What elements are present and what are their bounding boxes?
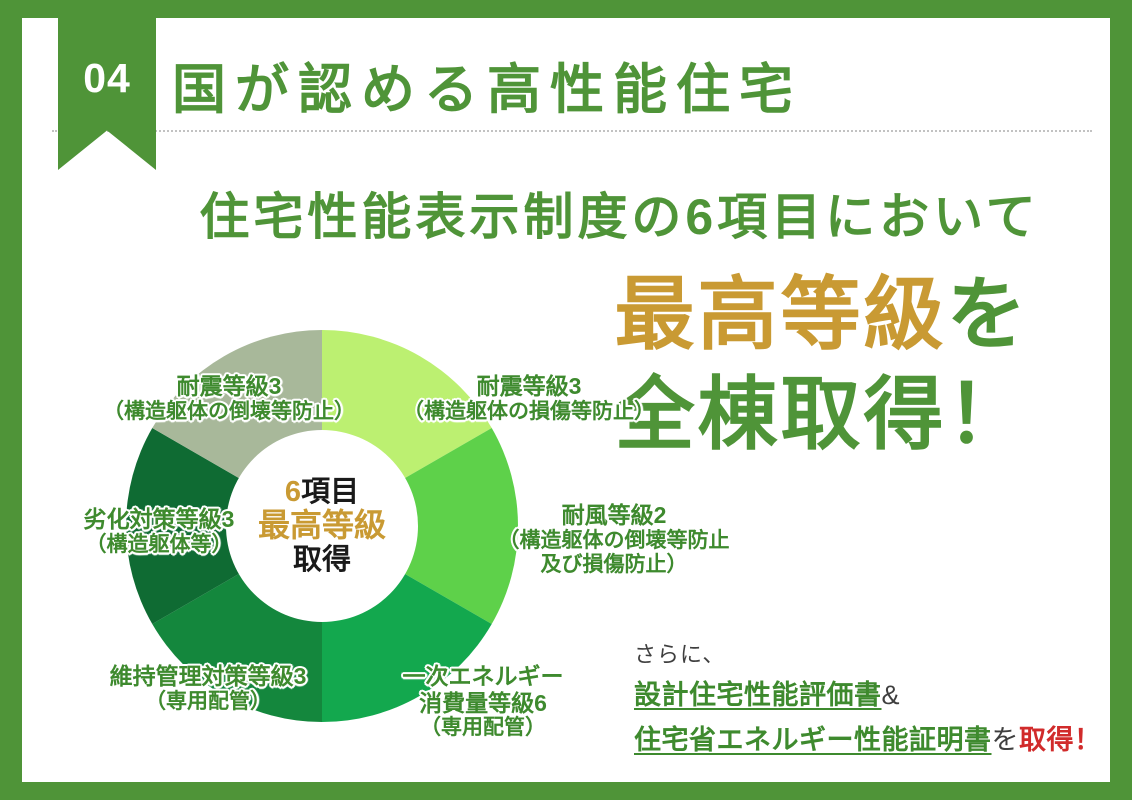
segment-label-taishin-sonsho: 耐震等級3 （構造躯体の損傷等防止） [384, 373, 674, 424]
headline-gold-text: 最高等級 [615, 270, 947, 359]
content-canvas: 04 国が認める高性能住宅 住宅性能表示制度の6項目において 最高等級を 全棟取… [22, 18, 1110, 782]
footnote-row-1: 設計住宅性能評価書& [634, 675, 1104, 716]
page-title: 国が認める高性能住宅 [172, 62, 802, 119]
donut-center-count: 6 [285, 476, 301, 508]
segment-label-title: 耐風等級2 [474, 502, 754, 529]
segment-label-sub: （構造躯体の損傷等防止） [384, 400, 674, 424]
segment-label-title: 耐震等級3 [384, 373, 674, 400]
segment-label-sub: （専用配管） [358, 716, 608, 740]
section-number-label: 04 [58, 58, 156, 99]
section-number-ribbon: 04 [58, 18, 156, 170]
headline-subtitle: 住宅性能表示制度の6項目において [142, 190, 1097, 245]
segment-label-title: 劣化対策等級3 [28, 506, 290, 533]
segment-label-sub2: 及び損傷防止） [474, 553, 754, 577]
footnote-intro: さらに、 [634, 638, 1104, 671]
segment-label-title: 耐震等級3 [84, 373, 374, 400]
segment-label-title2: 消費量等級6 [358, 690, 608, 717]
segment-label-title: 一次エネルギー [358, 663, 608, 690]
headline-main-line1: 最高等級を [542, 270, 1102, 360]
footnote-document-1: 設計住宅性能評価書 [634, 680, 882, 710]
header-divider [52, 130, 1092, 132]
donut-center-line1: 6項目 [285, 476, 359, 508]
segment-label-ijikanri: 維持管理対策等級3 （専用配管） [58, 663, 358, 714]
headline-particle: を [947, 270, 1030, 359]
segment-label-sub: （構造躯体の倒壊等防止） [84, 400, 374, 424]
footnote-emphasis: 取得！ [1019, 725, 1102, 755]
footnote-row-2: 住宅省エネルギー性能証明書を取得！ [634, 720, 1104, 761]
donut-center-line3: 取得 [293, 544, 351, 576]
footnote-particle: を [992, 725, 1020, 755]
donut-center-unit: 項目 [301, 476, 359, 508]
segment-label-taishin-tokai: 耐震等級3 （構造躯体の倒壊等防止） [84, 373, 374, 424]
infographic-page: 04 国が認める高性能住宅 住宅性能表示制度の6項目において 最高等級を 全棟取… [0, 0, 1132, 800]
segment-label-sub: （構造躯体の倒壊等防止 [474, 529, 754, 553]
segment-label-rekka: 劣化対策等級3 （構造躯体等） [28, 506, 290, 557]
footnote-ampersand: & [882, 680, 901, 710]
segment-label-title: 維持管理対策等級3 [58, 663, 358, 690]
segment-label-sub: （構造躯体等） [28, 533, 290, 557]
segment-label-taifu: 耐風等級2 （構造躯体の倒壊等防止 及び損傷防止） [474, 502, 754, 577]
segment-label-sub: （専用配管） [58, 690, 358, 714]
footnote-document-2: 住宅省エネルギー性能証明書 [634, 725, 992, 755]
segment-label-ichiji-energy: 一次エネルギー 消費量等級6 （専用配管） [358, 663, 608, 741]
footnote-block: さらに、 設計住宅性能評価書& 住宅省エネルギー性能証明書を取得！ [634, 638, 1104, 760]
